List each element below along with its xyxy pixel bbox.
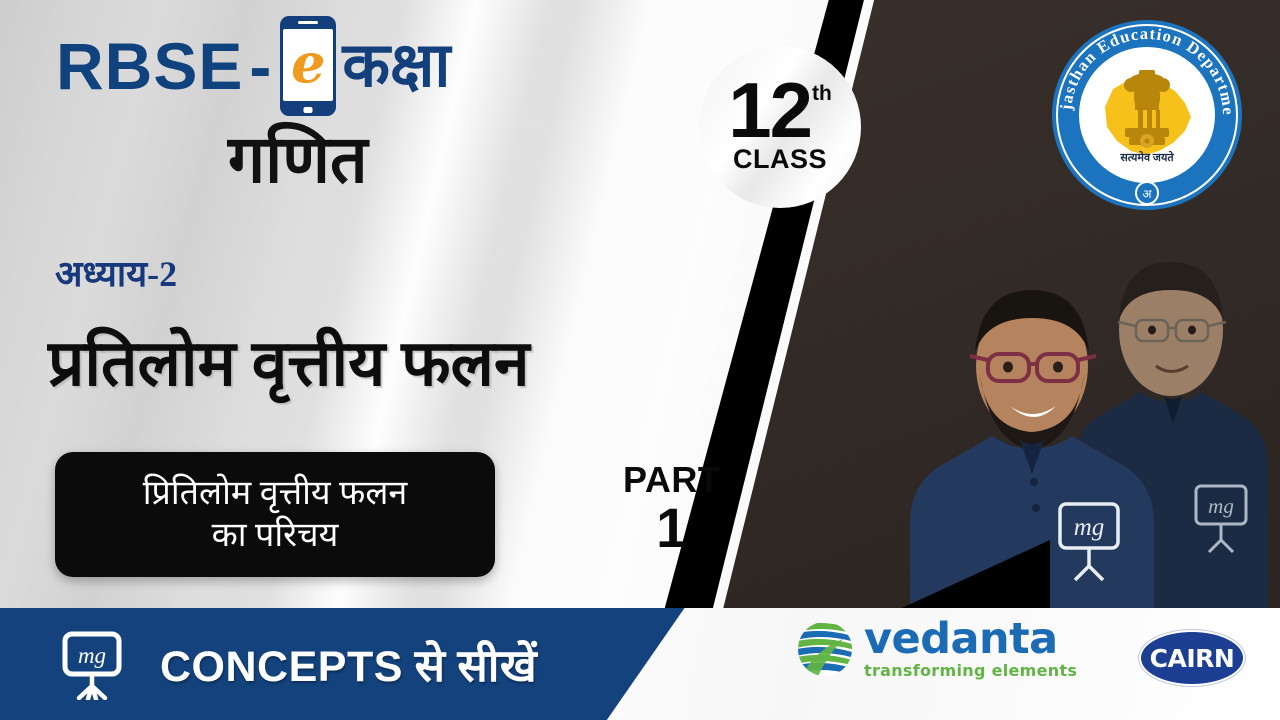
chapter-label: अध्याय-2 xyxy=(55,256,177,292)
class-badge: 12 th CLASS xyxy=(699,46,861,208)
svg-text:mg: mg xyxy=(78,643,106,668)
topic-callout-text: प्रितिलोम वृत्तीय फलन का परिचय xyxy=(143,473,408,556)
bottom-bar: mg CONCEPTS से सीखें xyxy=(0,608,1280,720)
brand-kaksha-text: कक्षा xyxy=(342,35,450,97)
sponsor-vedanta: vedanta transforming elements xyxy=(795,618,1077,679)
sponsor-cairn: CAIRN xyxy=(1139,630,1245,686)
page-title: प्रतिलोम वृत्तीय फलन xyxy=(48,330,529,397)
instructor-photo-group: mg mg xyxy=(898,228,1280,612)
tagline-concepts: CONCEPTS xyxy=(160,643,403,691)
topic-callout-box: प्रितिलोम वृत्तीय फलन का परिचय xyxy=(55,452,495,577)
rajasthan-education-department-logo: Rajasthan Education Department सत्यमेव ज… xyxy=(1043,11,1251,219)
vedanta-globe-icon xyxy=(795,619,855,679)
logo-motto-text: सत्यमेव जयते xyxy=(1119,150,1174,164)
class-number: 12 xyxy=(728,79,811,143)
subject-title: गणित xyxy=(228,128,368,194)
bottom-bar-tagline: CONCEPTS से सीखें xyxy=(160,634,537,695)
smartphone-icon: e xyxy=(280,16,336,116)
brand-rbse-text: RBSE xyxy=(56,33,243,99)
vedanta-tagline: transforming elements xyxy=(864,663,1077,679)
vedanta-wordmark: vedanta xyxy=(864,618,1077,661)
class-ordinal-suffix: th xyxy=(812,85,832,102)
cairn-wordmark: CAIRN xyxy=(1150,644,1235,673)
tagline-hindi: से सीखें xyxy=(415,641,538,691)
brand-e-letter: e xyxy=(291,36,325,90)
part-number: 1 xyxy=(623,500,720,556)
svg-text:mg: mg xyxy=(1074,514,1105,541)
part-label: PART xyxy=(623,462,720,498)
svg-text:अ: अ xyxy=(1142,187,1152,201)
part-indicator: PART 1 xyxy=(623,462,720,556)
brand-dash: - xyxy=(249,33,272,99)
class-word-label: CLASS xyxy=(733,144,827,175)
mg-easel-logo: mg xyxy=(58,628,130,700)
brand-lockup: RBSE - e कक्षा xyxy=(56,16,451,116)
thumbnail-canvas: RBSE - e कक्षा गणित 12 th CLASS Rajastha… xyxy=(0,0,1280,720)
svg-text:mg: mg xyxy=(1208,494,1234,518)
